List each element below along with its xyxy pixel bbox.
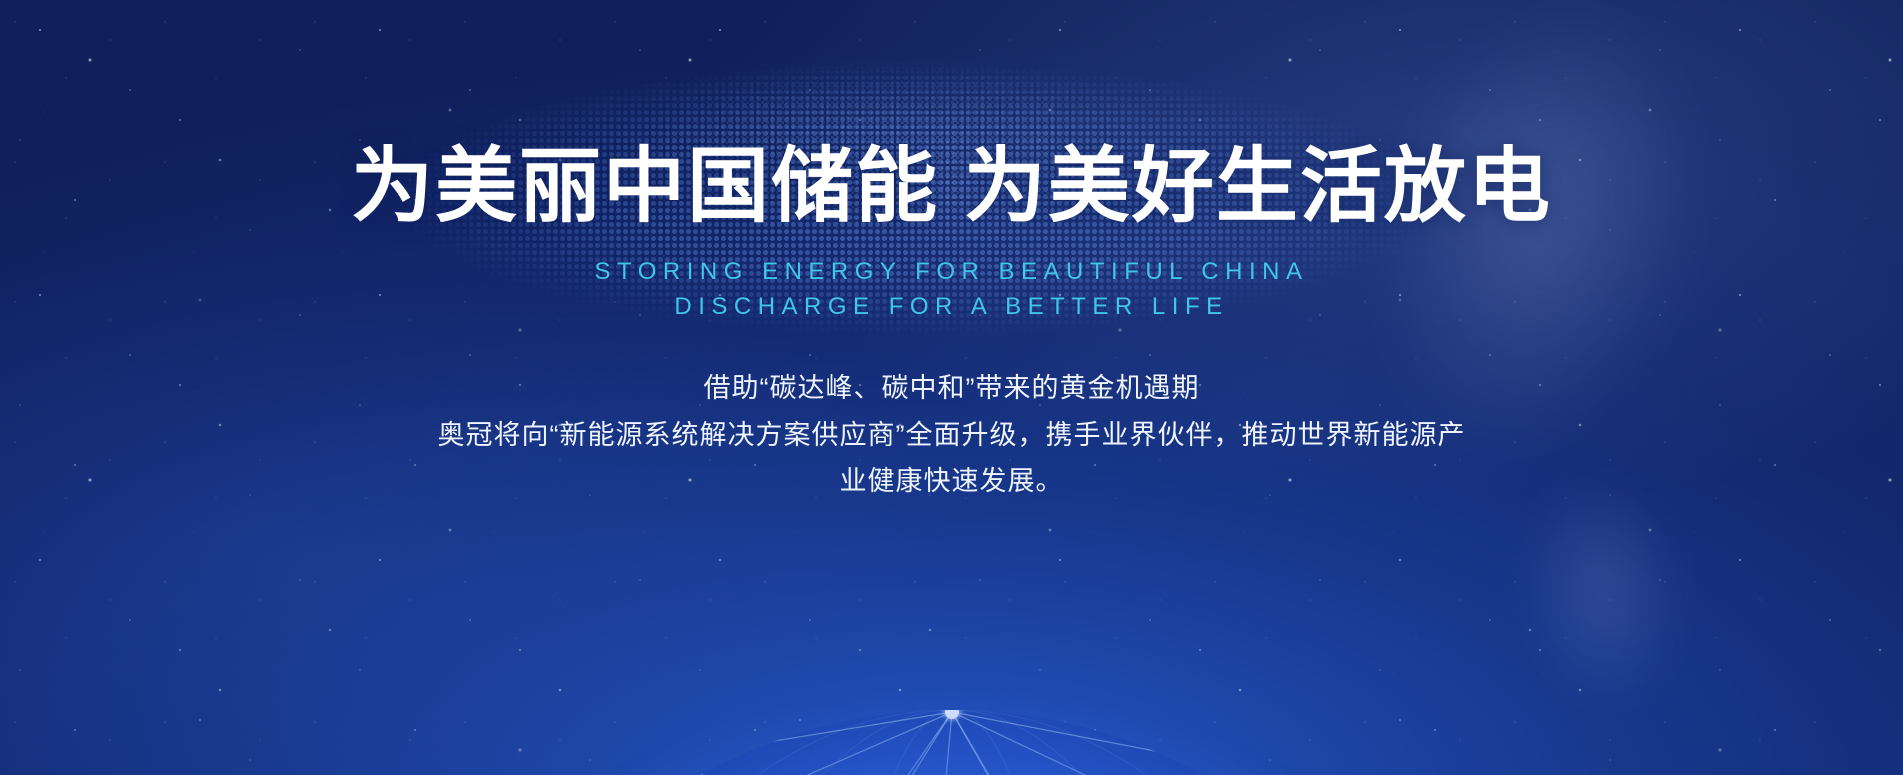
globe-network-nodes bbox=[488, 705, 1417, 775]
globe-glow bbox=[362, 620, 1542, 775]
english-subtitle: STORING ENERGY FOR BEAUTIFUL CHINA DISCH… bbox=[0, 255, 1903, 325]
english-subtitle-line-1: STORING ENERGY FOR BEAUTIFUL CHINA bbox=[0, 255, 1903, 290]
globe-sphere bbox=[432, 710, 1472, 775]
banner-content: 为美丽中国储能 为美好生活放电 STORING ENERGY FOR BEAUT… bbox=[0, 0, 1903, 504]
body-paragraph-line-3: 业健康快速发展。 bbox=[0, 458, 1903, 504]
globe-rim-highlight bbox=[432, 710, 1472, 775]
hero-banner: 为美丽中国储能 为美好生活放电 STORING ENERGY FOR BEAUT… bbox=[0, 0, 1903, 775]
body-paragraph-line-2: 奥冠将向“新能源系统解决方案供应商”全面升级，携手业界伙伴，推动世界新能源产 bbox=[0, 412, 1903, 458]
globe-graphic bbox=[352, 630, 1552, 775]
globe-wireframe-svg bbox=[352, 630, 1552, 775]
page-title: 为美丽中国储能 为美好生活放电 bbox=[0, 140, 1903, 233]
english-subtitle-line-2: DISCHARGE FOR A BETTER LIFE bbox=[0, 290, 1903, 325]
globe-latitude-longitude-lines bbox=[432, 705, 1472, 775]
globe-network-mesh bbox=[494, 712, 1412, 775]
body-paragraph-line-1: 借助“碳达峰、碳中和”带来的黄金机遇期 bbox=[0, 365, 1903, 411]
body-paragraph: 借助“碳达峰、碳中和”带来的黄金机遇期 奥冠将向“新能源系统解决方案供应商”全面… bbox=[0, 365, 1903, 504]
